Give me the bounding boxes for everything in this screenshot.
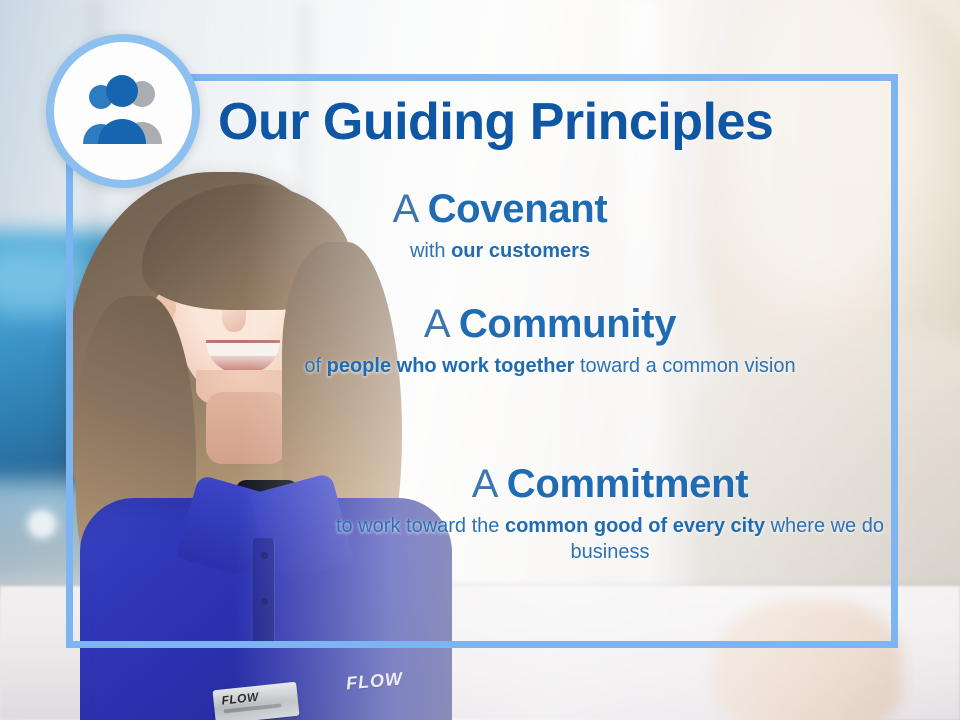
banner-graphic: FLOW FLOW Our Guiding Pri: [0, 0, 960, 720]
principle-heading: A Community: [290, 303, 810, 345]
principle-covenant: A Covenant with our customers: [250, 188, 750, 264]
principle-article: A: [424, 302, 448, 346]
principle-community: A Community of people who work together …: [290, 303, 810, 379]
subtext-run: of: [304, 355, 326, 377]
principle-commitment: A Commitment to work toward the common g…: [330, 463, 890, 566]
principle-heading: A Commitment: [330, 463, 890, 505]
principle-word: Commitment: [507, 462, 748, 506]
subtext-emphasis: people who work together: [327, 355, 575, 377]
principle-article: A: [393, 187, 417, 231]
page-title: Our Guiding Principles: [218, 96, 878, 148]
subtext-emphasis: common good of every city: [505, 515, 765, 537]
people-group-badge: [46, 34, 200, 188]
subtext-run: with: [410, 240, 451, 262]
principle-article: A: [472, 462, 496, 506]
principle-subtext: to work toward the common good of every …: [330, 513, 890, 566]
principle-subtext: with our customers: [250, 238, 750, 264]
subtext-run: to work toward the: [336, 515, 505, 537]
subtext-emphasis: our customers: [451, 240, 590, 262]
people-group-icon: [75, 72, 171, 150]
principle-heading: A Covenant: [250, 188, 750, 230]
subtext-run: toward a common vision: [574, 355, 795, 377]
principle-word: Covenant: [428, 187, 608, 231]
principle-word: Community: [459, 302, 676, 346]
principle-subtext: of people who work together toward a com…: [290, 353, 810, 379]
